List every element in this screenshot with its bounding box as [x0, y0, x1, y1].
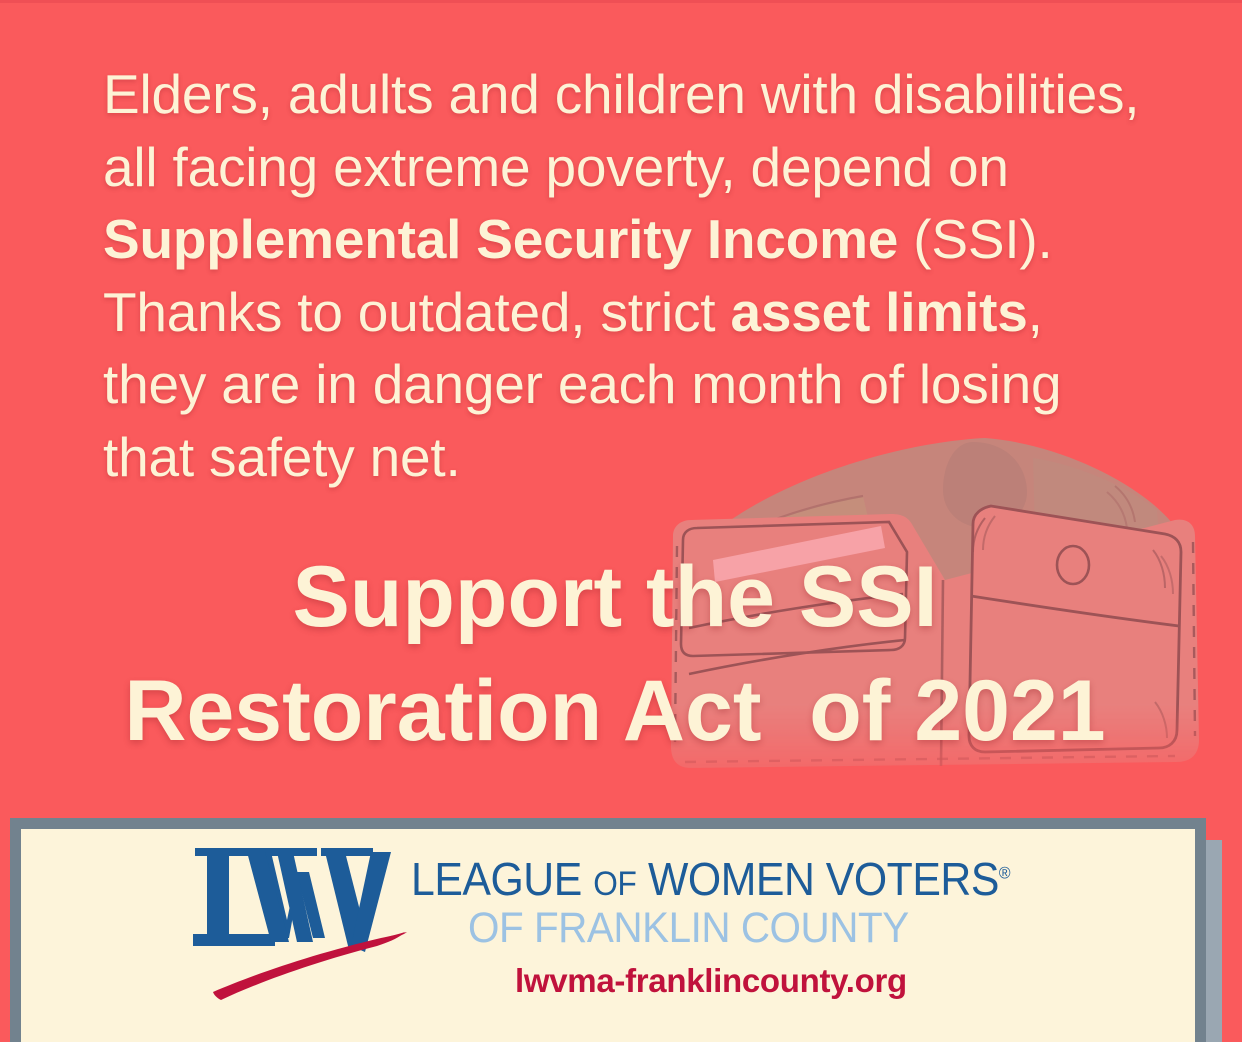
body-line-3-rest: (SSI).	[898, 208, 1052, 270]
lwv-monogram-icon	[185, 842, 425, 1002]
poster-canvas: 100	[0, 0, 1242, 1042]
headline: Support the SSI Restoration Act of 2021	[60, 540, 1170, 769]
body-copy: Elders, adults and children with disabil…	[103, 58, 1193, 494]
body-line-5: they are in danger each month of losing	[103, 353, 1061, 415]
body-line-4-post: ,	[1028, 281, 1043, 343]
org-website-url: lwvma-franklincounty.org	[515, 962, 907, 1000]
org-chapter-name: OF FRANKLIN COUNTY	[468, 904, 909, 953]
body-line-6: that safety net.	[103, 426, 461, 488]
body-line-4-pre: Thanks to outdated, strict	[103, 281, 730, 343]
body-line-2: all facing extreme poverty, depend on	[103, 136, 1009, 198]
org-name: LEAGUE OF WOMEN VOTERS®	[411, 852, 1010, 906]
body-line-4-bold: asset limits	[730, 281, 1027, 343]
body-line-3-bold: Supplemental Security Income	[103, 208, 898, 270]
body-line-1: Elders, adults and children with disabil…	[103, 63, 1139, 125]
lwv-logo-lockup: LEAGUE OF WOMEN VOTERS® OF FRANKLIN COUN…	[185, 832, 1065, 1032]
red-background-panel: 100	[0, 0, 1242, 822]
headline-line-1: Support the SSI	[60, 540, 1170, 654]
org-name-of: OF	[593, 865, 636, 903]
org-name-part2: WOMEN VOTERS	[637, 853, 999, 905]
registered-trademark-icon: ®	[999, 864, 1010, 883]
org-name-part1: LEAGUE	[411, 853, 593, 905]
headline-line-2: Restoration Act of 2021	[60, 654, 1170, 768]
